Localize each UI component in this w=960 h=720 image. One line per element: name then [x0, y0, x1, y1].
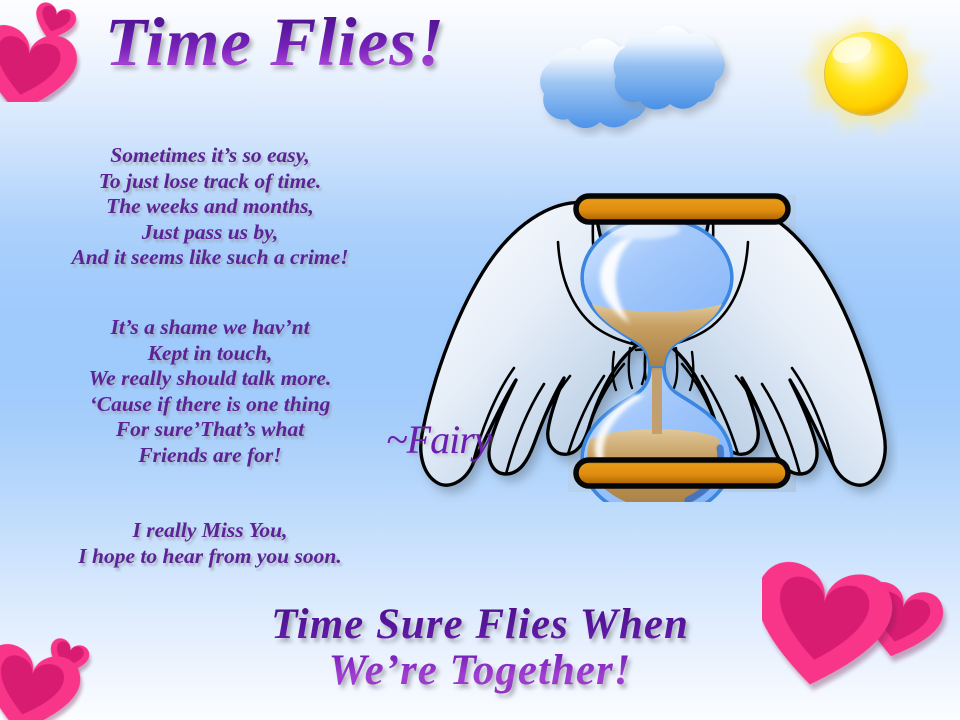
tagline: Time Sure Flies When We’re Together! — [0, 602, 960, 695]
poem-line: I hope to hear from you soon. — [0, 544, 420, 570]
poem-line: Sometimes it’s so easy, — [0, 143, 420, 169]
poem-line: I really Miss You, — [0, 518, 420, 544]
poem-line: Friends are for! — [0, 443, 420, 469]
sun-icon — [788, 8, 948, 143]
poem-line: And it seems like such a crime! — [0, 245, 420, 271]
greeting-card-canvas: Time Flies! Sometimes it’s so easy, To j… — [0, 0, 960, 720]
poem-stanza-3: I really Miss You, I hope to hear from y… — [0, 518, 420, 569]
poem-stanza-1: Sometimes it’s so easy, To just lose tra… — [0, 143, 420, 271]
poem-line: ‘Cause if there is one thing — [0, 392, 420, 418]
hourglass-cap-bottom — [576, 460, 788, 486]
signature: ~Fairy — [386, 416, 491, 463]
poem-line: Just pass us by, — [0, 220, 420, 246]
poem-line: To just lose track of time. — [0, 169, 420, 195]
tagline-line-2: We’re Together! — [0, 648, 960, 694]
poem-line: The weeks and months, — [0, 194, 420, 220]
hourglass-cap-top — [576, 196, 788, 222]
cloud-icon — [508, 20, 738, 138]
page-title: Time Flies! — [105, 8, 445, 77]
tagline-line-1: Time Sure Flies When — [0, 602, 960, 648]
poem-line: For sure’That’s what — [0, 417, 420, 443]
poem-line: Kept in touch, — [0, 341, 420, 367]
poem-stanza-2: It’s a shame we hav’nt Kept in touch, We… — [0, 315, 420, 468]
poem-line: It’s a shame we hav’nt — [0, 315, 420, 341]
poem-line: We really should talk more. — [0, 366, 420, 392]
